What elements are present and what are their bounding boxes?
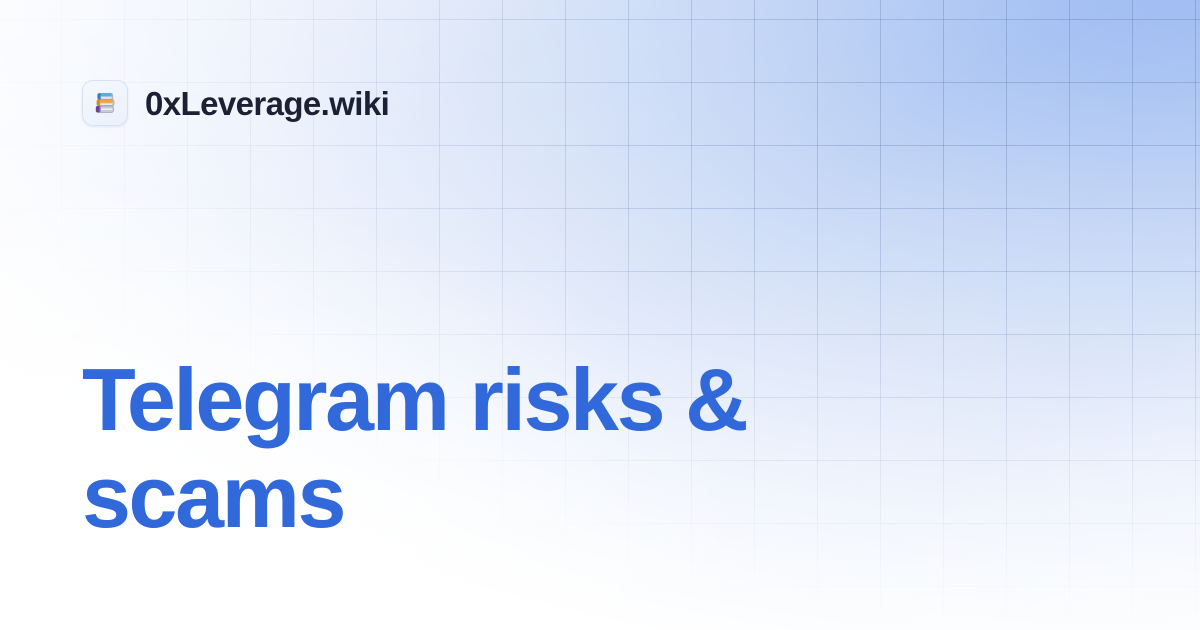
brand-lockup: 0xLeverage.wiki — [82, 80, 389, 126]
brand-logo-badge — [82, 80, 128, 126]
open-graph-card: 0xLeverage.wiki Telegram risks & scams — [0, 0, 1200, 630]
card-content: 0xLeverage.wiki Telegram risks & scams — [0, 0, 1200, 630]
brand-name: 0xLeverage.wiki — [145, 87, 389, 120]
page-title: Telegram risks & scams — [82, 352, 882, 546]
stacked-books-icon — [90, 88, 120, 118]
